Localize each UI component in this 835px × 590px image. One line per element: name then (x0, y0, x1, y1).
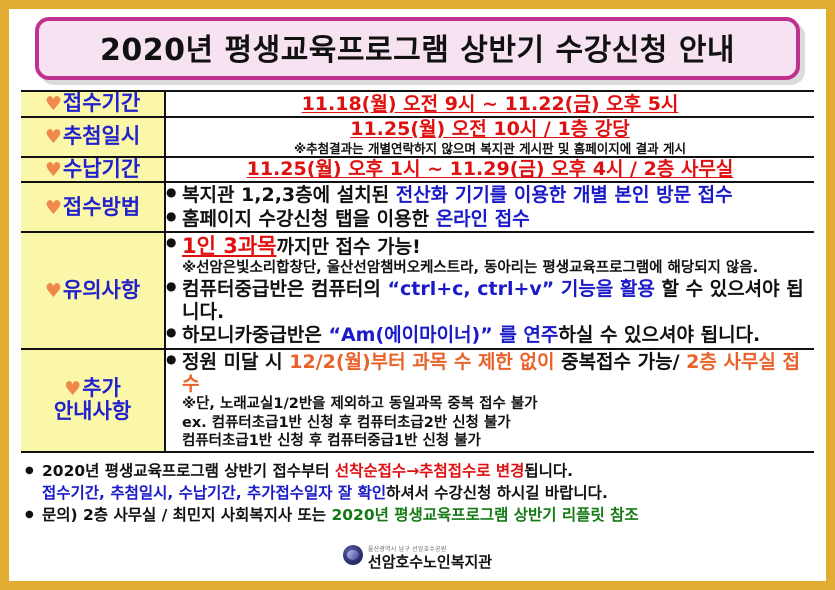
heart-icon: ♥ (64, 378, 81, 400)
extra-prefix: 정원 미달 시 (182, 351, 289, 373)
page-title: 2020년 평생교육프로그램 상반기 수강신청 안내 (39, 25, 796, 69)
logo-tagline: 울산광역시 남구 선암호수공원 (368, 546, 447, 553)
row-label-precautions: ♥유의사항 (21, 232, 165, 348)
table-row: ♥접수방법 복지관 1,2,3층에 설치된 전산화 기기를 이용한 개별 본인 … (21, 182, 814, 232)
note-1-prefix: 2020년 평생교육프로그램 상반기 접수부터 (42, 462, 335, 480)
list-item: 컴퓨터중급반은 컴퓨터의 “ctrl+c, ctrl+v” 기능을 활용 할 수… (166, 278, 814, 323)
footer: 울산광역시 남구 선암호수공원 선암호수노인복지관 (9, 539, 826, 571)
label-text-line2: 안내사항 (54, 399, 131, 423)
computer-class-prefix: 컴퓨터중급반은 컴퓨터의 (182, 278, 388, 300)
row-value-additional-info: 정원 미달 시 12/2(월)부터 과목 수 제한 없이 중복접수 가능/ 2층… (165, 349, 814, 452)
row-value-precautions: 1인 3과목까지만 접수 가능! ※선암은빛소리합창단, 울산선암챔버오케스트라… (165, 232, 814, 348)
note-2-suffix: 하셔서 수강신청 하시길 바랍니다. (386, 484, 608, 502)
lottery-datetime-line: 11.25(월) 오전 10시 / 1층 강당 (166, 118, 814, 140)
extra-date-highlight: 12/2(월)부터 과목 수 제한 없이 (289, 351, 554, 373)
note-3-prefix: 문의) 2층 사무실 / 최민지 사회복지사 또는 (42, 506, 331, 524)
label-text: 접수방법 (63, 195, 140, 219)
row-value-lottery-datetime: 11.25(월) 오전 10시 / 1층 강당 ※추첨결과는 개별연락하지 않으… (165, 117, 814, 157)
heart-icon: ♥ (45, 126, 62, 148)
method-2-prefix: 홈페이지 수강신청 탭을 이용한 (182, 208, 436, 230)
list-item: 복지관 1,2,3층에 설치된 전산화 기기를 이용한 개별 본인 방문 접수 (166, 184, 814, 206)
application-period-text: 11.18(월) 오전 9시 ~ 11.22(금) 오후 5시 (302, 93, 679, 115)
method-2-highlight: 온라인 접수 (436, 208, 530, 230)
harmonica-class-prefix: 하모니카중급반은 (182, 324, 328, 346)
row-label-application-method: ♥접수방법 (21, 182, 165, 232)
poster-root: 2020년 평생교육프로그램 상반기 수강신청 안내 ♥접수기간 11.18(월… (0, 0, 835, 590)
row-label-additional-info: ♥추가 안내사항 (21, 349, 165, 452)
additional-note: ※단, 노래교실1/2반을 제외하고 동일과목 중복 접수 불가 (166, 396, 814, 413)
row-value-application-method: 복지관 1,2,3층에 설치된 전산화 기기를 이용한 개별 본인 방문 접수 … (165, 182, 814, 232)
method-list: 복지관 1,2,3층에 설치된 전산화 기기를 이용한 개별 본인 방문 접수 … (166, 184, 814, 230)
organization-logo: 울산광역시 남구 선암호수공원 선암호수노인복지관 (343, 539, 492, 571)
list-item: 정원 미달 시 12/2(월)부터 과목 수 제한 없이 중복접수 가능/ 2층… (166, 351, 814, 396)
info-table: ♥접수기간 11.18(월) 오전 9시 ~ 11.22(금) 오후 5시 ♥추… (21, 90, 814, 453)
table-row: ♥추가 안내사항 정원 미달 시 12/2(월)부터 과목 수 제한 없이 중복… (21, 349, 814, 452)
method-1-highlight: 전산화 기기를 이용한 개별 본인 방문 접수 (396, 184, 733, 206)
label-text: 접수기간 (63, 91, 140, 115)
extra-middle: 중복접수 가능/ (554, 351, 686, 373)
logo-text: 울산광역시 남구 선암호수공원 선암호수노인복지관 (368, 539, 492, 571)
table-row: ♥수납기간 11.25(월) 오후 1시 ~ 11.29(금) 오후 4시 / … (21, 157, 814, 183)
limit-highlight: 1인 3과목 (182, 234, 277, 258)
table-row: ♥접수기간 11.18(월) 오전 9시 ~ 11.22(금) 오후 5시 (21, 91, 814, 117)
additional-list: 정원 미달 시 12/2(월)부터 과목 수 제한 없이 중복접수 가능/ 2층… (166, 351, 814, 450)
row-label-application-period: ♥접수기간 (21, 91, 165, 117)
heart-icon: ♥ (45, 280, 62, 302)
bottom-note-1: 2020년 평생교육프로그램 상반기 접수부터 선착순접수→추첨접수로 변경됩니… (25, 460, 812, 482)
note-2-highlight: 접수기간, 추첨일시, 수납기간, 추가접수일자 잘 확인 (42, 484, 386, 502)
organization-name: 선암호수노인복지관 (368, 553, 492, 571)
label-text: 수납기간 (63, 157, 140, 181)
note-1-highlight: 선착순접수→추첨접수로 변경 (335, 462, 525, 480)
label-text: 유의사항 (63, 278, 140, 302)
additional-example-2: 컴퓨터초급1반 신청 후 컴퓨터중급1반 신청 불가 (166, 433, 814, 450)
list-item: 홈페이지 수강신청 탭을 이용한 온라인 접수 (166, 208, 814, 230)
method-1-prefix: 복지관 1,2,3층에 설치된 (182, 184, 396, 206)
row-label-payment-period: ♥수납기간 (21, 157, 165, 183)
logo-mark-icon (343, 545, 363, 565)
limit-suffix: 까지만 접수 가능! (277, 236, 421, 258)
table-row: ♥유의사항 1인 3과목까지만 접수 가능! ※선암은빛소리합창단, 울산선암챔… (21, 232, 814, 348)
heart-icon: ♥ (45, 197, 62, 219)
harmonica-class-suffix: 하실 수 있으셔야 됩니다. (558, 324, 760, 346)
row-label-lottery-datetime: ♥추첨일시 (21, 117, 165, 157)
precaution-note: ※선암은빛소리합창단, 울산선암챔버오케스트라, 동아리는 평생교육프로그램에 … (166, 260, 814, 277)
harmonica-class-highlight: “Am(에이마이너)” 를 연주 (328, 324, 558, 346)
label-text: 추첨일시 (63, 124, 140, 148)
additional-example-1: ex. 컴퓨터초급1반 신청 후 컴퓨터초급2반 신청 불가 (166, 415, 814, 432)
heart-icon: ♥ (45, 159, 62, 181)
payment-period-text: 11.25(월) 오후 1시 ~ 11.29(금) 오후 4시 / 2층 사무실 (247, 158, 734, 180)
bottom-notes: 2020년 평생교육프로그램 상반기 접수부터 선착순접수→추첨접수로 변경됩니… (25, 460, 812, 526)
bottom-note-2: 접수기간, 추첨일시, 수납기간, 추가접수일자 잘 확인하셔서 수강신청 하시… (25, 482, 812, 504)
bottom-note-3: 문의) 2층 사무실 / 최민지 사회복지사 또는 2020년 평생교육프로그램… (25, 504, 812, 526)
lottery-note: ※추첨결과는 개별연락하지 않으며 복지관 게시판 및 홈페이지에 결과 게시 (166, 141, 814, 156)
title-banner: 2020년 평생교육프로그램 상반기 수강신청 안내 (35, 17, 800, 80)
title-banner-wrap: 2020년 평생교육프로그램 상반기 수강신청 안내 (35, 17, 800, 80)
row-value-payment-period: 11.25(월) 오후 1시 ~ 11.29(금) 오후 4시 / 2층 사무실 (165, 157, 814, 183)
list-item: 하모니카중급반은 “Am(에이마이너)” 를 연주하실 수 있으셔야 됩니다. (166, 324, 814, 346)
list-item: 1인 3과목까지만 접수 가능! (166, 234, 814, 259)
computer-class-highlight: “ctrl+c, ctrl+v” 기능을 활용 (388, 278, 655, 300)
note-1-suffix: 됩니다. (524, 462, 573, 480)
row-value-application-period: 11.18(월) 오전 9시 ~ 11.22(금) 오후 5시 (165, 91, 814, 117)
label-text-line1: 추가 (82, 376, 121, 400)
heart-icon: ♥ (45, 93, 62, 115)
note-3-highlight: 2020년 평생교육프로그램 상반기 리플릿 참조 (331, 506, 638, 524)
table-row: ♥추첨일시 11.25(월) 오전 10시 / 1층 강당 ※추첨결과는 개별연… (21, 117, 814, 157)
precaution-list: 1인 3과목까지만 접수 가능! ※선암은빛소리합창단, 울산선암챔버오케스트라… (166, 234, 814, 346)
lottery-datetime-text: 11.25(월) 오전 10시 / 1층 강당 (350, 118, 630, 140)
